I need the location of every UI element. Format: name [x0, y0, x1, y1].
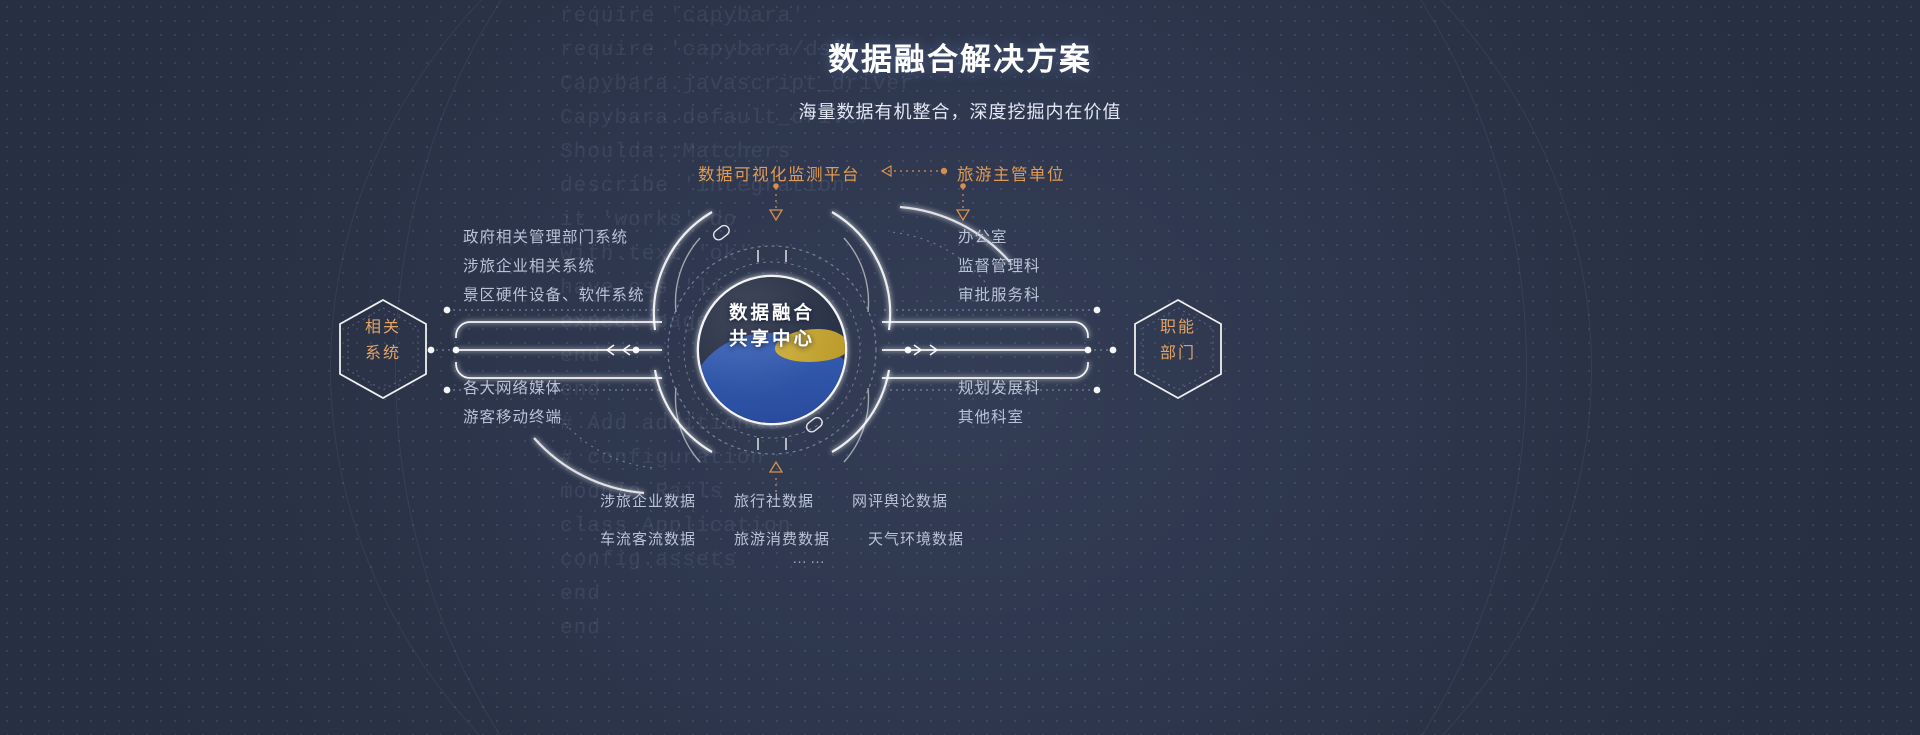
right-dept-1: 办公室 — [958, 225, 1008, 247]
bottom-data-more: …… — [600, 550, 1020, 567]
right-hexagon-line1: 职能 — [1123, 315, 1233, 341]
left-source-4: 各大网络媒体 — [463, 376, 562, 398]
left-hexagon-label: 相关 系统 — [328, 315, 438, 367]
bottom-data-row-1: 涉旅企业数据 旅行社数据 网评舆论数据 — [600, 490, 1020, 511]
bottom-data-cell: 车流客流数据 — [600, 528, 696, 549]
right-dept-4: 规划发展科 — [958, 376, 1041, 398]
core-label-line1: 数据融合 — [699, 300, 845, 326]
left-hexagon-line2: 系统 — [328, 341, 438, 367]
right-hexagon-label: 职能 部门 — [1123, 315, 1233, 367]
left-hexagon-line1: 相关 — [328, 315, 438, 341]
bottom-data-cell: 旅行社数据 — [734, 490, 814, 511]
bottom-data-cell: 旅游消费数据 — [734, 528, 830, 549]
connector-lines — [0, 0, 1920, 735]
right-hexagon-line2: 部门 — [1123, 341, 1233, 367]
infographic-canvas: require 'capybara'require 'capybara/dsl'… — [0, 0, 1920, 735]
left-source-1: 政府相关管理部门系统 — [463, 225, 628, 247]
bottom-data-row-2: 车流客流数据 旅游消费数据 天气环境数据 — [600, 528, 1020, 549]
bottom-data-cell: 涉旅企业数据 — [600, 490, 696, 511]
core-label: 数据融合 共享中心 — [699, 300, 845, 352]
visualization-platform-label[interactable]: 数据可视化监测平台 — [698, 161, 860, 185]
left-source-2: 涉旅企业相关系统 — [463, 254, 595, 276]
left-source-5: 游客移动终端 — [463, 405, 562, 427]
tourism-authority-label[interactable]: 旅游主管单位 — [957, 161, 1065, 185]
bottom-data-cell: 天气环境数据 — [868, 528, 964, 549]
core-label-line2: 共享中心 — [699, 326, 845, 352]
bottom-data-cell: 网评舆论数据 — [852, 490, 948, 511]
right-dept-3: 审批服务科 — [958, 283, 1041, 305]
left-source-3: 景区硬件设备、软件系统 — [463, 283, 645, 305]
diagram — [0, 0, 1920, 735]
right-dept-5: 其他科室 — [958, 405, 1024, 427]
right-dept-2: 监督管理科 — [958, 254, 1041, 276]
